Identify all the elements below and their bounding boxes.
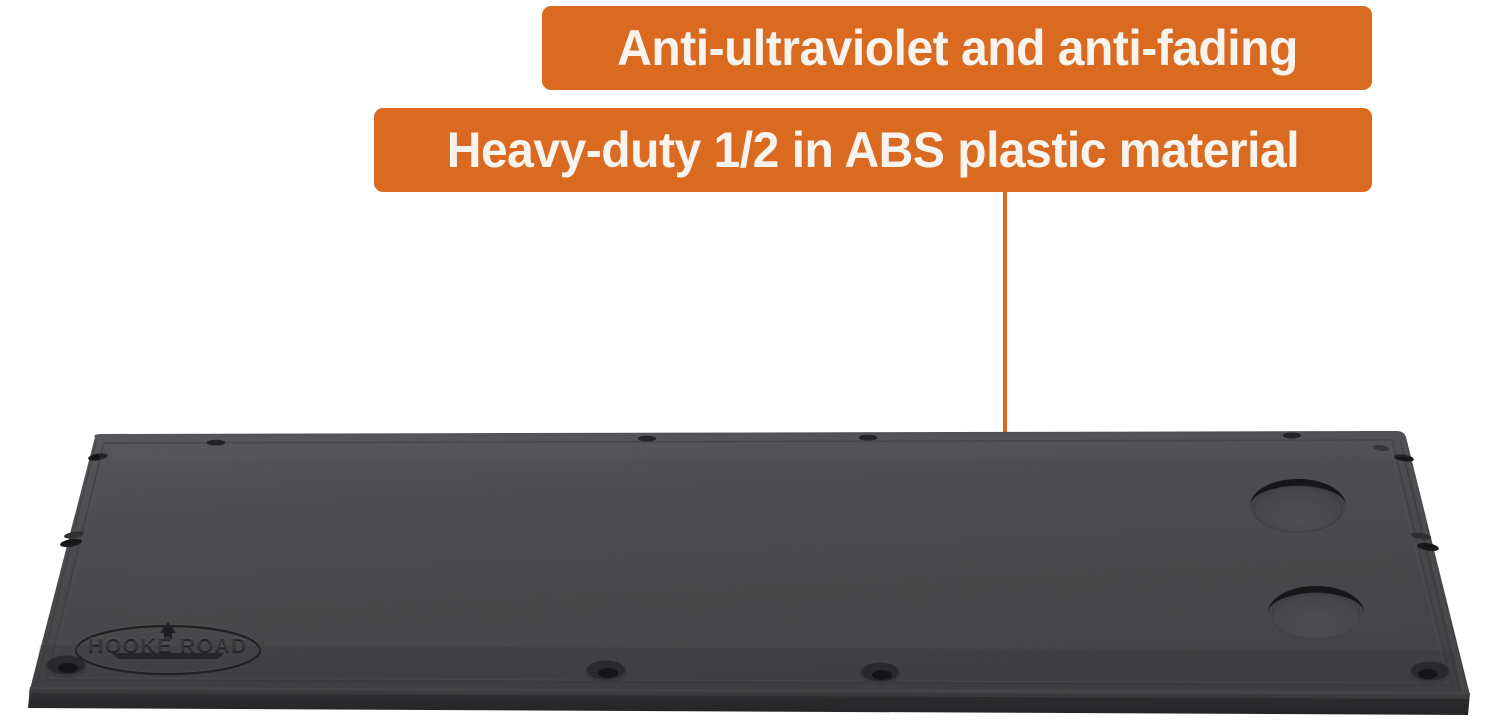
feature-banner-abs-material: Heavy-duty 1/2 in ABS plastic material (374, 108, 1372, 192)
recess-lower (1268, 586, 1364, 640)
product-panel-image: HOOKE ROAD HOOKE ROAD (0, 395, 1500, 723)
product-panel-graphic: HOOKE ROAD HOOKE ROAD (0, 395, 1500, 723)
feature-banner-abs-material-label: Heavy-duty 1/2 in ABS plastic material (447, 121, 1299, 179)
feature-banner-anti-uv-label: Anti-ultraviolet and anti-fading (617, 19, 1298, 77)
panel-bottom-shade (32, 645, 1460, 691)
recess-upper (1250, 479, 1346, 533)
feature-banner-anti-uv: Anti-ultraviolet and anti-fading (542, 6, 1372, 90)
product-feature-image: Anti-ultraviolet and anti-fading Heavy-d… (0, 0, 1500, 723)
panel-top-sheen (95, 433, 1410, 461)
